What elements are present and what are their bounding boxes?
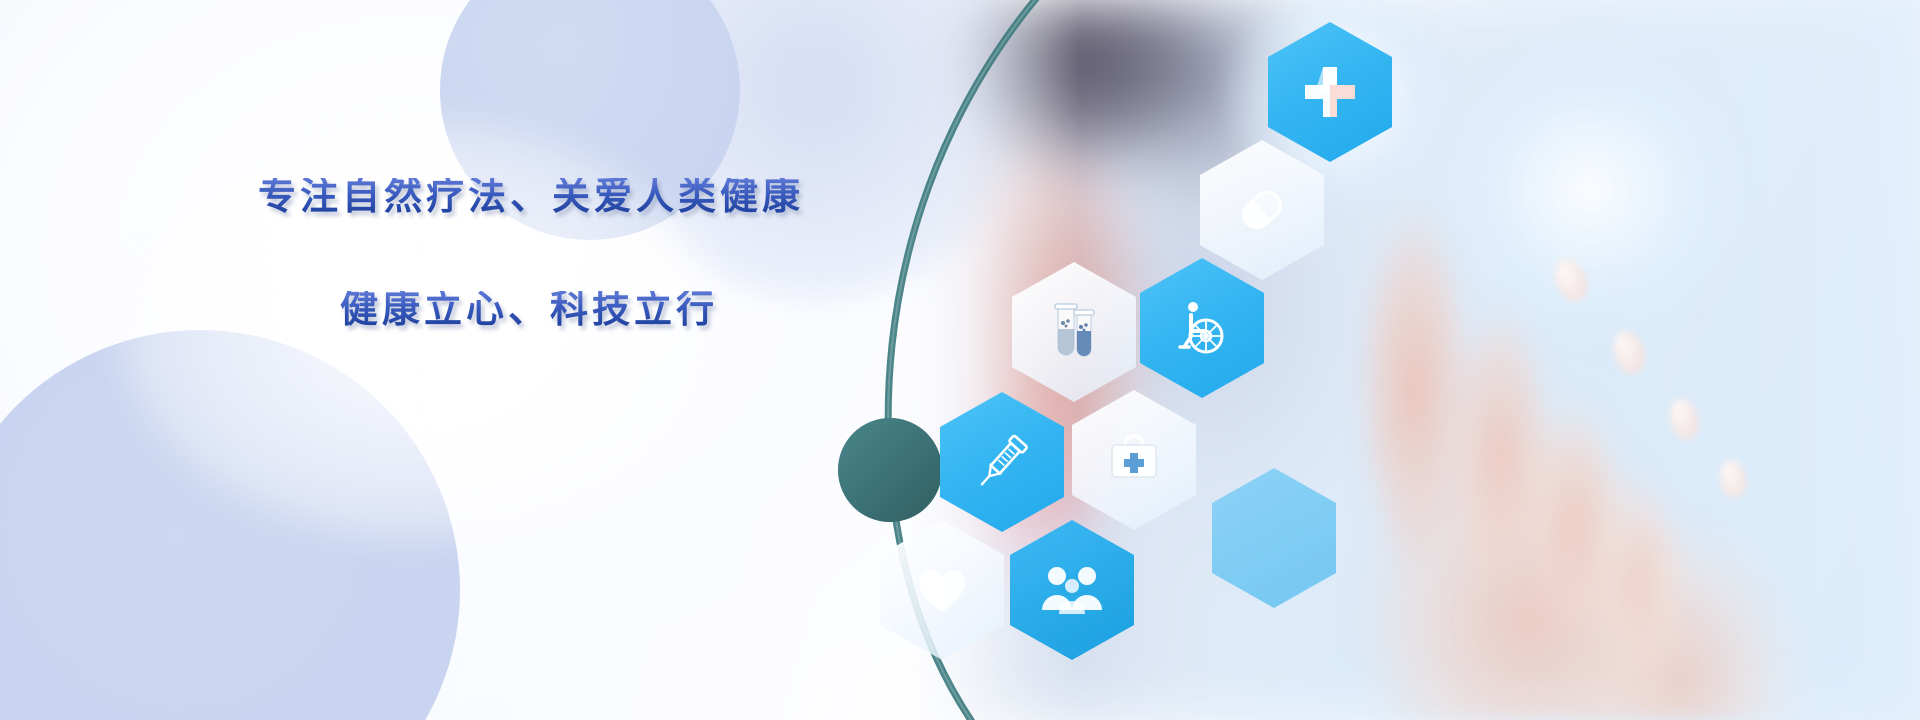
headline-line-1: 专注自然疗法、关爱人类健康 bbox=[258, 178, 878, 216]
test-tubes-icon bbox=[1041, 297, 1107, 367]
syringe-icon bbox=[966, 426, 1038, 498]
pill-capsule-icon bbox=[1229, 177, 1295, 243]
heart-icon bbox=[910, 560, 974, 620]
headline-block: 专注自然疗法、关爱人类健康 健康立心、科技立行 bbox=[258, 178, 878, 329]
hero-banner: 专注自然疗法、关爱人类健康 健康立心、科技立行 bbox=[0, 0, 1920, 720]
hexagon-syringe[interactable] bbox=[940, 392, 1064, 532]
wheelchair-icon bbox=[1169, 295, 1235, 361]
hexagon-heart[interactable] bbox=[880, 520, 1004, 660]
medical-kit-icon bbox=[1103, 429, 1165, 491]
headline-line-2: 健康立心、科技立行 bbox=[340, 291, 878, 329]
family-people-icon bbox=[1037, 560, 1107, 620]
medical-cross-icon bbox=[1299, 61, 1361, 123]
hexagon-icon-cluster bbox=[0, 0, 1050, 720]
